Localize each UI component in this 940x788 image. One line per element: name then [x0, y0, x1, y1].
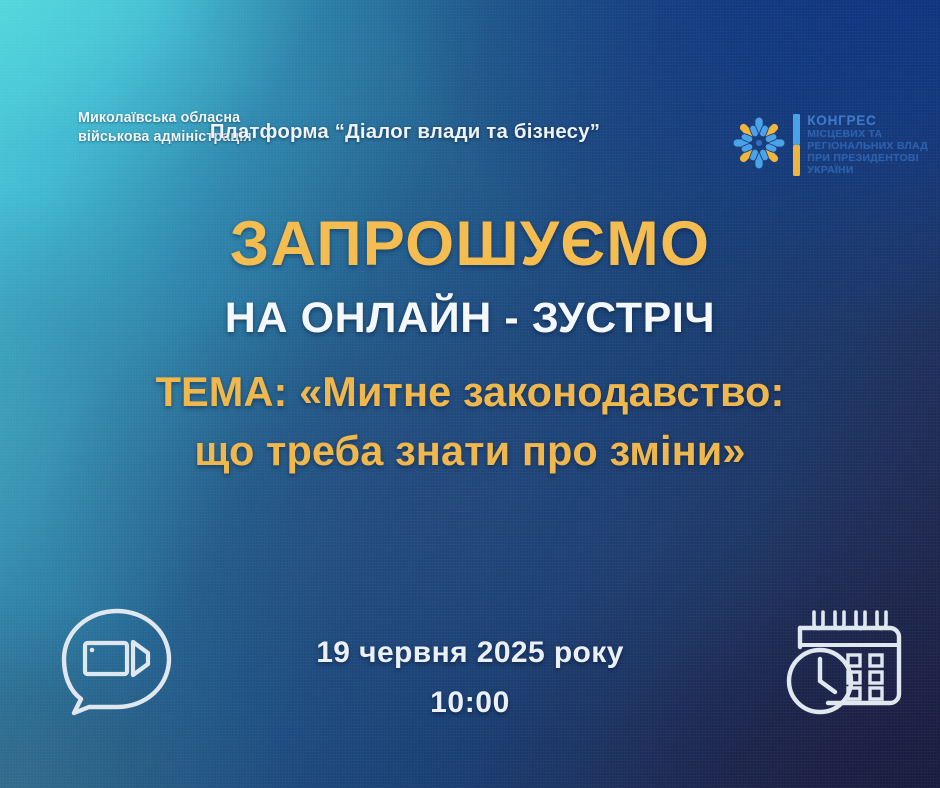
poster-footer: 19 червня 2025 року 10:00 [0, 558, 940, 788]
congress-line-5: УКРАЇНИ [807, 165, 928, 177]
congress-line-2: МІСЦЕВИХ ТА [807, 129, 928, 141]
headline-block: ЗАПРОШУЄМО НА ОНЛАЙН - ЗУСТРІЧ ТЕМА: «Ми… [0, 212, 940, 481]
congress-line-3: РЕГІОНАЛЬНИХ ВЛАД [807, 141, 928, 153]
poster-header: Миколаївська обласна військова адміністр… [0, 0, 940, 196]
poster-canvas: Миколаївська обласна військова адміністр… [0, 0, 940, 788]
event-date: 19 червня 2025 року [0, 636, 940, 670]
congress-line-4: ПРИ ПРЕЗИДЕНТОВІ [807, 153, 928, 165]
topic-line-1: ТЕМА: «Митне законодавство: [0, 363, 940, 422]
event-datetime: 19 червня 2025 року 10:00 [0, 636, 940, 720]
congress-logo-text: КОНГРЕС МІСЦЕВИХ ТА РЕГІОНАЛЬНИХ ВЛАД ПР… [807, 113, 928, 176]
invitation-title: ЗАПРОШУЄМО [0, 212, 940, 276]
event-time: 10:00 [0, 686, 940, 720]
logo-flag-bar-icon [791, 114, 802, 176]
topic-line-2: що треба знати про зміни» [0, 422, 940, 481]
congress-line-1: КОНГРЕС [807, 113, 928, 128]
platform-label: Платформа “Діалог влади та бізнесу” [210, 121, 600, 144]
congress-pinwheel-emblem [728, 107, 790, 183]
congress-logo: КОНГРЕС МІСЦЕВИХ ТА РЕГІОНАЛЬНИХ ВЛАД ПР… [728, 103, 928, 187]
event-type-subtitle: НА ОНЛАЙН - ЗУСТРІЧ [0, 296, 940, 341]
topic-heading: ТЕМА: «Митне законодавство: що треба зна… [0, 363, 940, 481]
